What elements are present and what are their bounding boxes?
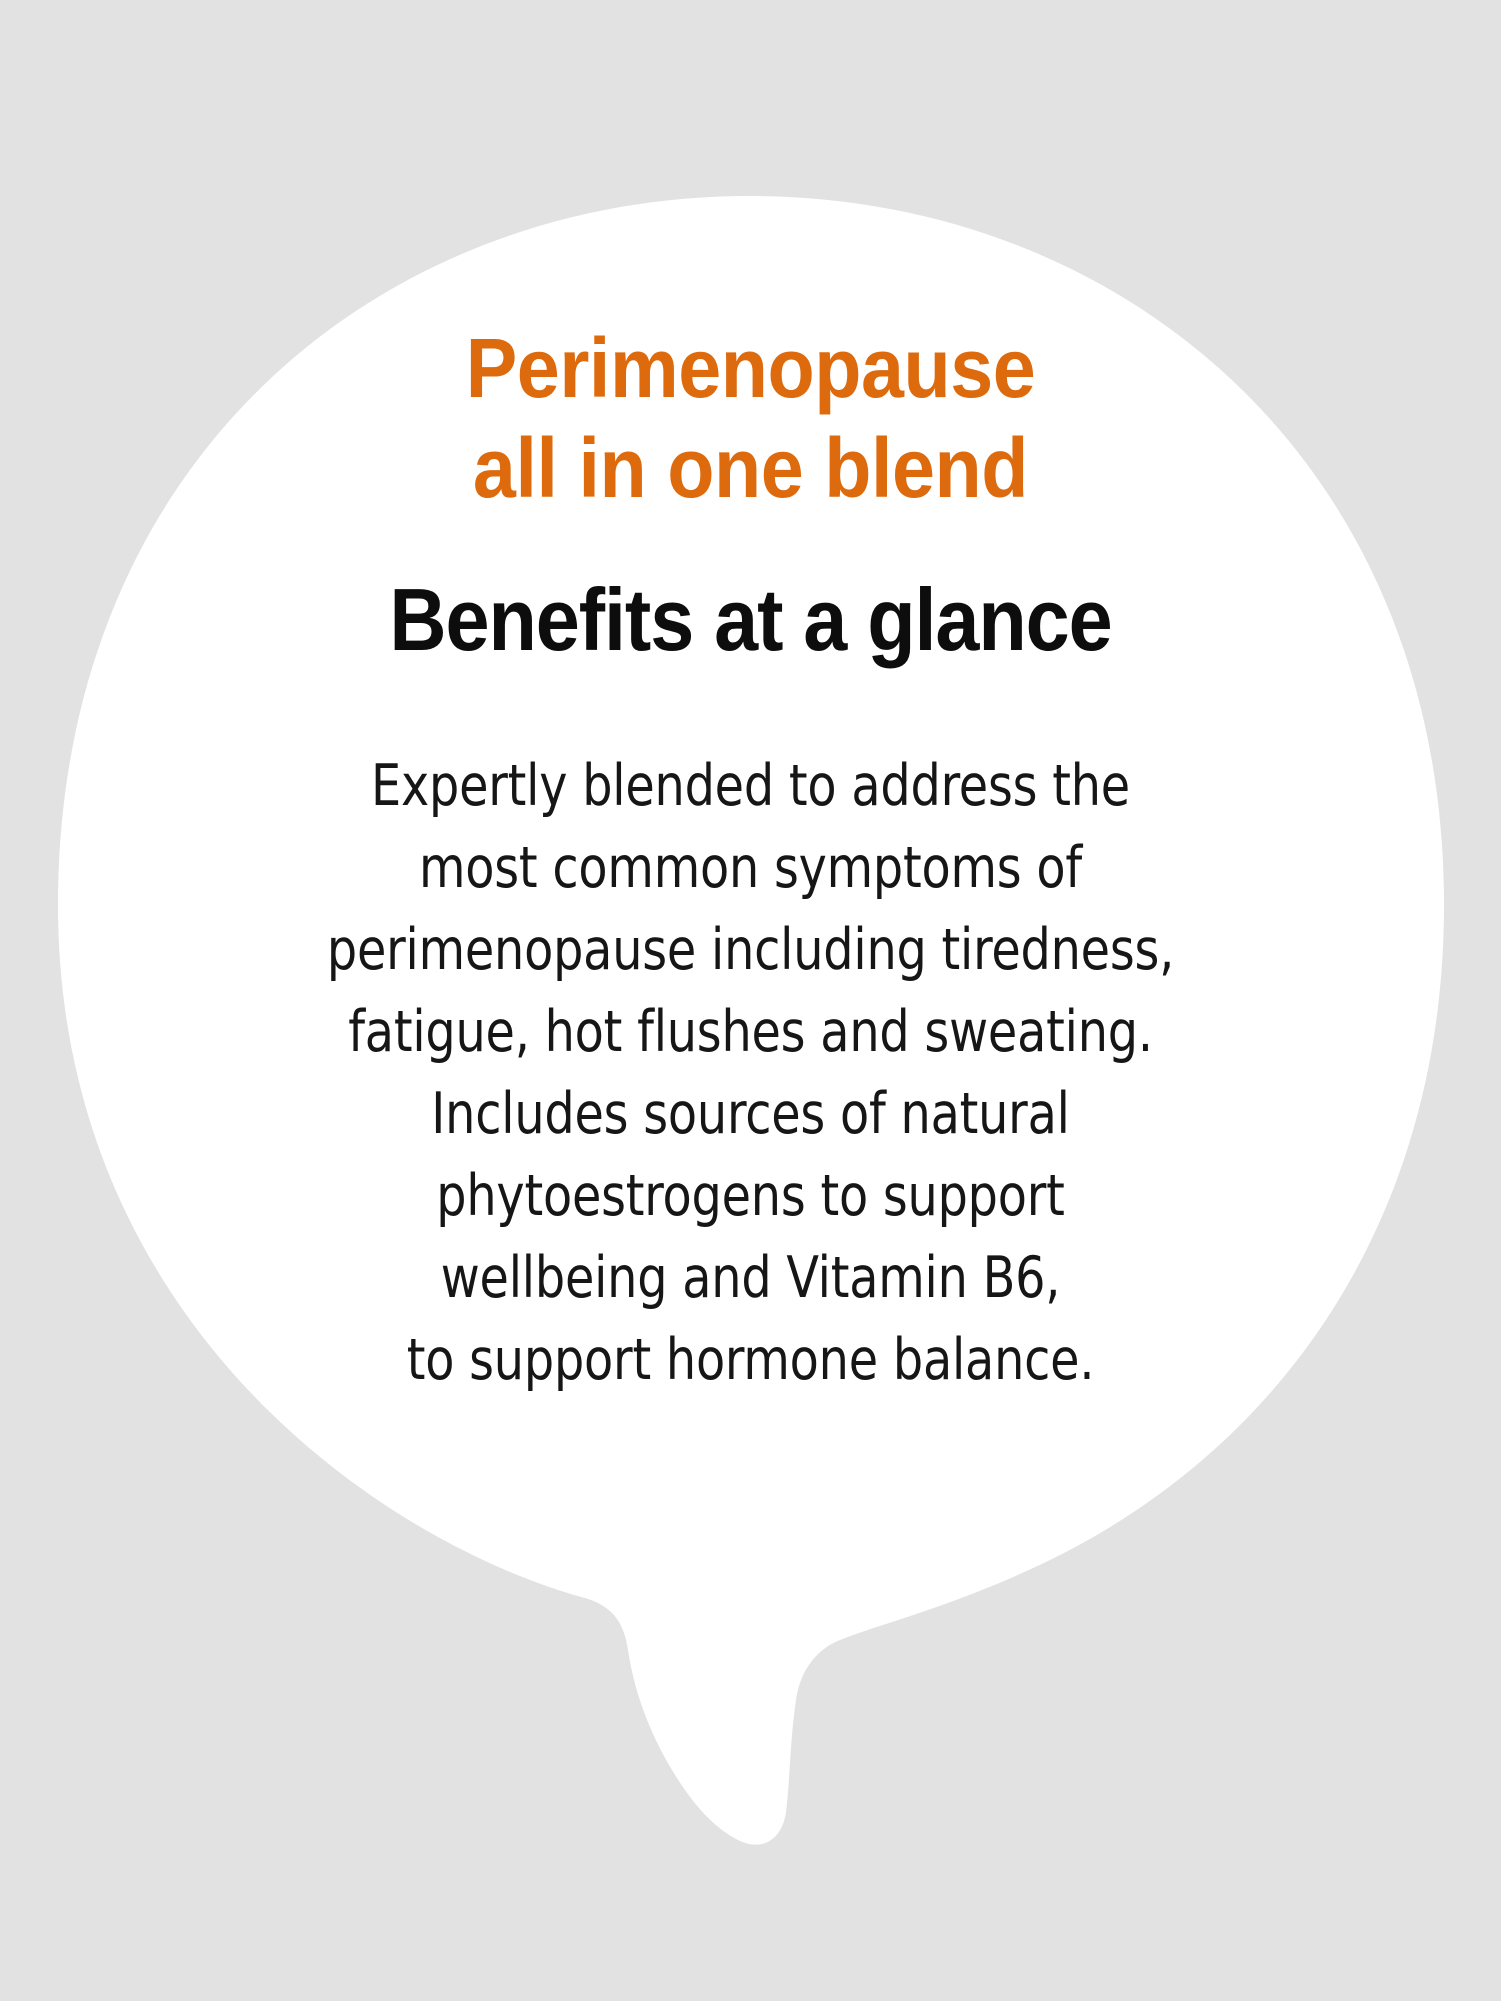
promo-card: Perimenopause all in one blend Benefits …	[0, 0, 1501, 2001]
speech-bubble	[0, 0, 1501, 2001]
